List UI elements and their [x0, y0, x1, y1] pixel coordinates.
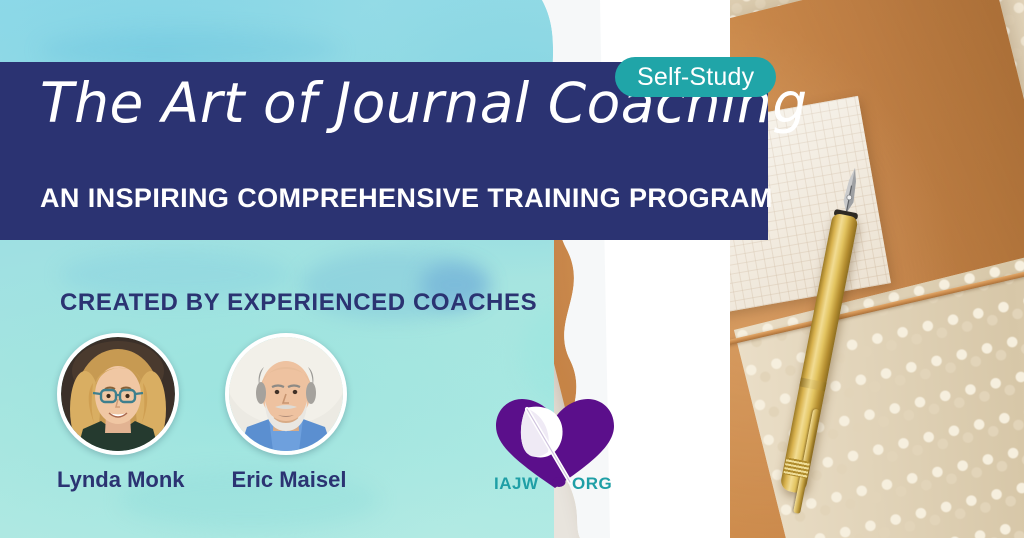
coach-card: Eric Maisel — [225, 333, 349, 493]
avatar — [225, 333, 347, 455]
logo-dot — [553, 477, 566, 487]
page-subtitle: AN INSPIRING COMPREHENSIVE TRAINING PROG… — [40, 183, 740, 214]
pen-seam — [799, 378, 826, 392]
iajw-logo: IAJW ORG — [490, 392, 620, 498]
coach-card: Lynda Monk — [57, 333, 181, 493]
created-by-label: CREATED BY EXPERIENCED COACHES — [60, 289, 537, 317]
pen-end-rings — [783, 457, 810, 478]
avatar — [57, 333, 179, 455]
coach-name: Eric Maisel — [229, 467, 349, 493]
status-badge: Self-Study — [615, 57, 776, 97]
logo-text-right: ORG — [572, 474, 612, 493]
promo-banner: The Art of Journal Coaching AN INSPIRING… — [0, 0, 1024, 538]
logo-text-left: IAJW — [494, 474, 539, 493]
coach-name: Lynda Monk — [57, 467, 181, 493]
